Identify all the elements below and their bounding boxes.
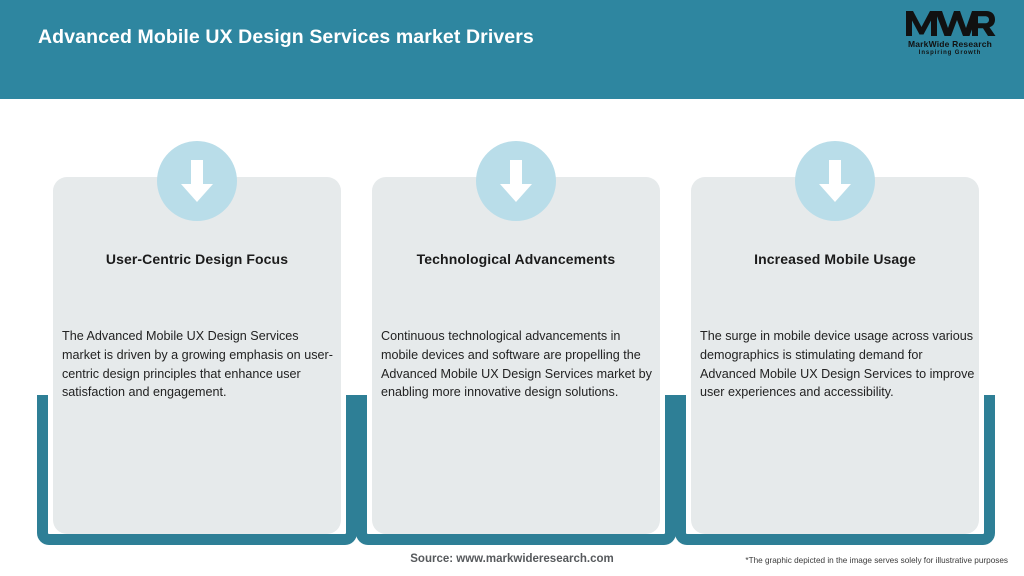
disclaimer-note: *The graphic depicted in the image serve… <box>745 556 1008 565</box>
down-arrow-glyph <box>815 158 855 204</box>
down-arrow-glyph <box>496 158 536 204</box>
mwr-logo-icon <box>904 8 996 38</box>
driver-card[interactable]: Technological Advancements Continuous te… <box>356 99 676 539</box>
logo-tagline: Inspiring Growth <box>919 49 981 57</box>
card-title: Technological Advancements <box>368 251 664 267</box>
down-arrow-icon <box>476 141 556 221</box>
brand-logo: MarkWide Research Inspiring Growth <box>898 8 1002 64</box>
logo-company-name: MarkWide Research <box>908 39 992 49</box>
card-body-text: The surge in mobile device usage across … <box>700 327 977 402</box>
down-arrow-icon <box>795 141 875 221</box>
driver-card[interactable]: User-Centric Design Focus The Advanced M… <box>37 99 357 539</box>
driver-card[interactable]: Increased Mobile Usage The surge in mobi… <box>675 99 995 539</box>
card-body-text: Continuous technological advancements in… <box>381 327 658 402</box>
page-title: Advanced Mobile UX Design Services marke… <box>38 26 534 49</box>
card-title: Increased Mobile Usage <box>687 251 983 267</box>
card-title: User-Centric Design Focus <box>49 251 345 267</box>
down-arrow-glyph <box>177 158 217 204</box>
drivers-card-group: User-Centric Design Focus The Advanced M… <box>0 99 1024 539</box>
down-arrow-icon <box>157 141 237 221</box>
page-header: Advanced Mobile UX Design Services marke… <box>0 0 1024 99</box>
card-body-text: The Advanced Mobile UX Design Services m… <box>62 327 339 402</box>
